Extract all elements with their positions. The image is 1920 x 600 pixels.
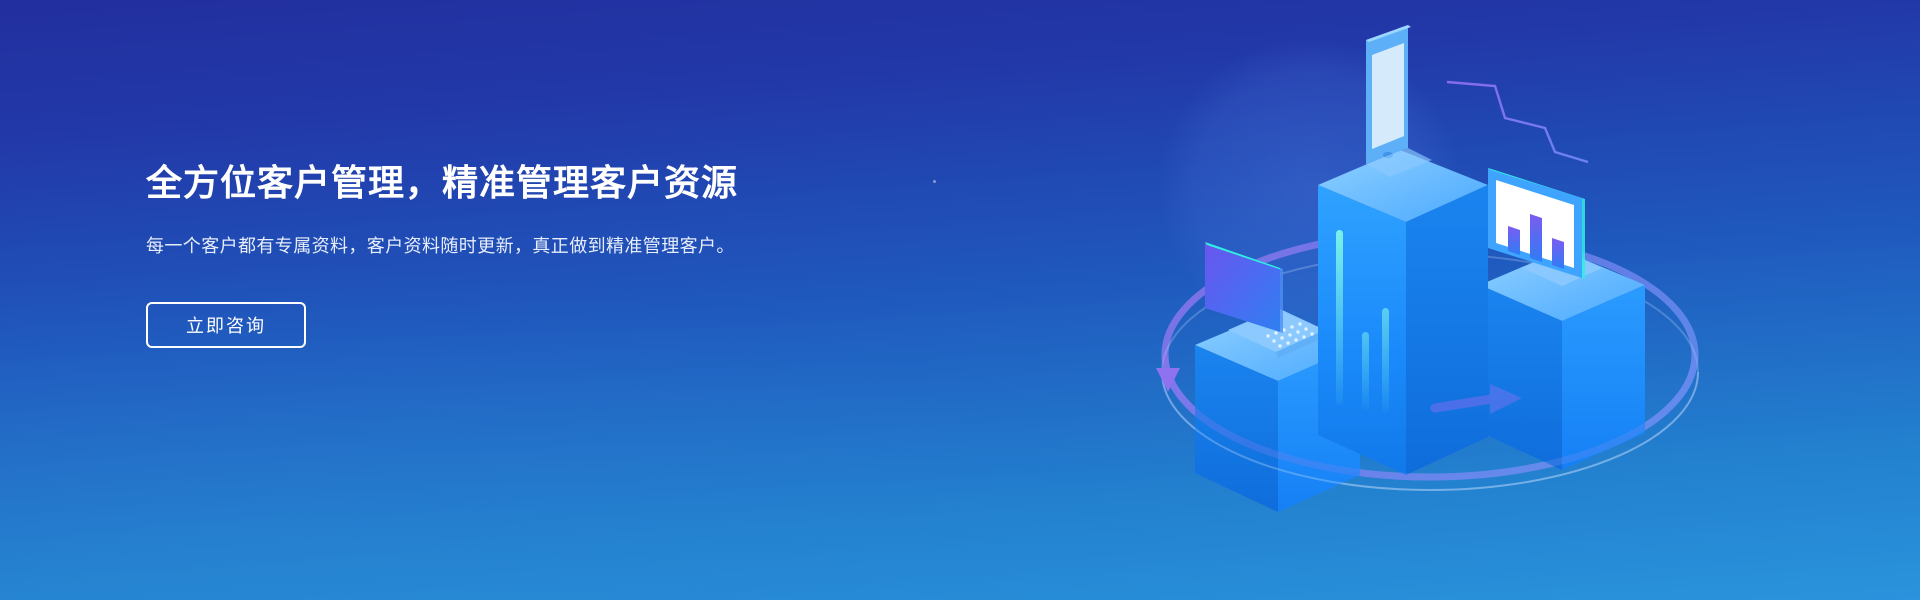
- background-speck: [933, 180, 936, 183]
- center-pedestal: [1318, 150, 1488, 475]
- hero-subtitle: 每一个客户都有专属资料，客户资料随时更新，真正做到精准管理客户。: [146, 232, 736, 260]
- page-title: 全方位客户管理，精准管理客户资源: [146, 160, 766, 206]
- consult-now-button[interactable]: 立即咨询: [146, 302, 306, 348]
- monitor-device: [1488, 168, 1602, 286]
- hero-banner: 全方位客户管理，精准管理客户资源 每一个客户都有专属资料，客户资料随时更新，真正…: [0, 0, 1920, 600]
- hero-copy: 全方位客户管理，精准管理客户资源 每一个客户都有专属资料，客户资料随时更新，真正…: [146, 160, 766, 348]
- connector-polyline: [1447, 82, 1588, 162]
- hero-illustration: [1150, 0, 1710, 600]
- tablet-device: [1366, 25, 1432, 177]
